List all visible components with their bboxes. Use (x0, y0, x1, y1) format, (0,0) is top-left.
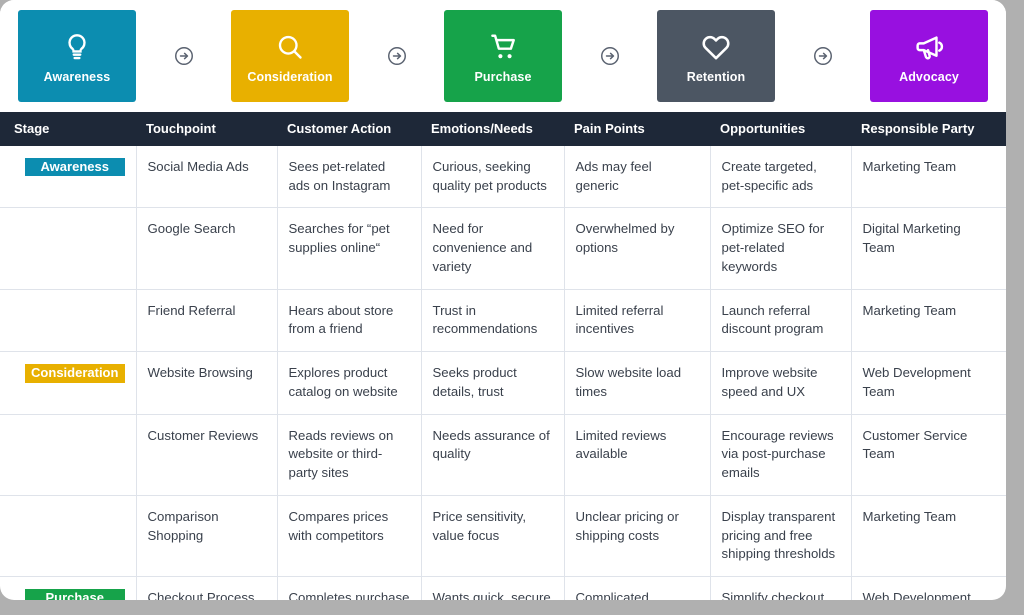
cell-responsible: Marketing Team (851, 146, 1006, 208)
cell-pain: Unclear pricing or shipping costs (564, 495, 710, 576)
cell-emotions: Wants quick, secure process (421, 577, 564, 600)
column-header-emotions-needs[interactable]: Emotions/Needs (421, 112, 564, 146)
circle-arrow-right-icon (384, 45, 410, 67)
cell-pain: Limited reviews available (564, 414, 710, 495)
stage-badge: Awareness (25, 158, 125, 176)
column-header-opportunities[interactable]: Opportunities (710, 112, 851, 146)
table-row: Friend ReferralHears about store from a … (0, 289, 1006, 351)
cell-opportunity: Display transparent pricing and free shi… (710, 495, 851, 576)
circle-arrow-right-icon (810, 45, 836, 67)
cell-action: Reads reviews on website or third-party … (277, 414, 421, 495)
stage-cell (0, 414, 136, 495)
cell-pain: Limited referral incentives (564, 289, 710, 351)
stage-card-retention[interactable]: Retention (657, 10, 775, 102)
stage-cell: Consideration (0, 352, 136, 414)
cell-touchpoint: Social Media Ads (136, 146, 277, 208)
stage-card-label: Retention (687, 71, 746, 85)
cell-action: Searches for “pet supplies online“ (277, 208, 421, 289)
stage-card-label: Awareness (44, 71, 111, 85)
cell-responsible: Web Development Team (851, 352, 1006, 414)
stage-card-label: Consideration (247, 71, 332, 85)
cell-responsible: Digital Marketing Team (851, 208, 1006, 289)
megaphone-icon (914, 26, 945, 68)
table-row: Comparison ShoppingCompares prices with … (0, 495, 1006, 576)
table-row: Google SearchSearches for “pet supplies … (0, 208, 1006, 289)
column-header-pain-points[interactable]: Pain Points (564, 112, 710, 146)
journey-map-card: AwarenessConsiderationPurchaseRetentionA… (0, 0, 1006, 600)
stage-cell (0, 289, 136, 351)
shopping-cart-icon (488, 26, 519, 68)
cell-opportunity: Improve website speed and UX (710, 352, 851, 414)
table-row: ConsiderationWebsite BrowsingExplores pr… (0, 352, 1006, 414)
table-header: StageTouchpointCustomer ActionEmotions/N… (0, 112, 1006, 146)
cell-emotions: Need for convenience and variety (421, 208, 564, 289)
circle-arrow-right-icon (597, 45, 623, 67)
cell-opportunity: Optimize SEO for pet-related keywords (710, 208, 851, 289)
cell-action: Completes purchase on website (277, 577, 421, 600)
customer-journey-table: StageTouchpointCustomer ActionEmotions/N… (0, 112, 1006, 600)
stage-cell: Awareness (0, 146, 136, 208)
stage-badge: Purchase (25, 589, 125, 600)
cell-opportunity: Create targeted, pet-specific ads (710, 146, 851, 208)
cell-action: Explores product catalog on website (277, 352, 421, 414)
cell-touchpoint: Customer Reviews (136, 414, 277, 495)
cell-pain: Complicated checkout steps (564, 577, 710, 600)
cell-touchpoint: Google Search (136, 208, 277, 289)
search-icon (275, 26, 305, 68)
stage-card-consideration[interactable]: Consideration (231, 10, 349, 102)
cell-action: Sees pet-related ads on Instagram (277, 146, 421, 208)
cell-responsible: Marketing Team (851, 289, 1006, 351)
column-header-responsible-party[interactable]: Responsible Party (851, 112, 1006, 146)
cell-responsible: Customer Service Team (851, 414, 1006, 495)
stage-cell: Purchase (0, 577, 136, 600)
cell-touchpoint: Website Browsing (136, 352, 277, 414)
table-row: Customer ReviewsReads reviews on website… (0, 414, 1006, 495)
stage-cell (0, 208, 136, 289)
heart-icon (700, 26, 732, 68)
stage-badge: Consideration (25, 364, 125, 382)
table-body: AwarenessSocial Media AdsSees pet-relate… (0, 146, 1006, 600)
stage-card-advocacy[interactable]: Advocacy (870, 10, 988, 102)
column-header-stage[interactable]: Stage (0, 112, 136, 146)
cell-responsible: Web Development Team (851, 577, 1006, 600)
cell-pain: Ads may feel generic (564, 146, 710, 208)
cell-opportunity: Encourage reviews via post-purchase emai… (710, 414, 851, 495)
cell-emotions: Trust in recommendations (421, 289, 564, 351)
table-header-row: StageTouchpointCustomer ActionEmotions/N… (0, 112, 1006, 146)
cell-pain: Overwhelmed by options (564, 208, 710, 289)
stage-cell (0, 495, 136, 576)
stage-card-label: Purchase (474, 71, 531, 85)
table-row: PurchaseCheckout ProcessCompletes purcha… (0, 577, 1006, 600)
cell-action: Compares prices with competitors (277, 495, 421, 576)
cell-pain: Slow website load times (564, 352, 710, 414)
cell-emotions: Seeks product details, trust (421, 352, 564, 414)
cell-emotions: Price sensitivity, value focus (421, 495, 564, 576)
column-header-customer-action[interactable]: Customer Action (277, 112, 421, 146)
cell-touchpoint: Friend Referral (136, 289, 277, 351)
stage-card-purchase[interactable]: Purchase (444, 10, 562, 102)
cell-emotions: Needs assurance of quality (421, 414, 564, 495)
cell-emotions: Curious, seeking quality pet products (421, 146, 564, 208)
cell-opportunity: Simplify checkout with guest option (710, 577, 851, 600)
circle-arrow-right-icon (171, 45, 197, 67)
table-row: AwarenessSocial Media AdsSees pet-relate… (0, 146, 1006, 208)
cell-responsible: Marketing Team (851, 495, 1006, 576)
cell-action: Hears about store from a friend (277, 289, 421, 351)
stage-card-awareness[interactable]: Awareness (18, 10, 136, 102)
stage-flow-strip: AwarenessConsiderationPurchaseRetentionA… (0, 0, 1006, 112)
cell-touchpoint: Comparison Shopping (136, 495, 277, 576)
cell-touchpoint: Checkout Process (136, 577, 277, 600)
column-header-touchpoint[interactable]: Touchpoint (136, 112, 277, 146)
cell-opportunity: Launch referral discount program (710, 289, 851, 351)
stage-card-label: Advocacy (899, 71, 959, 85)
lightbulb-icon (62, 26, 92, 68)
